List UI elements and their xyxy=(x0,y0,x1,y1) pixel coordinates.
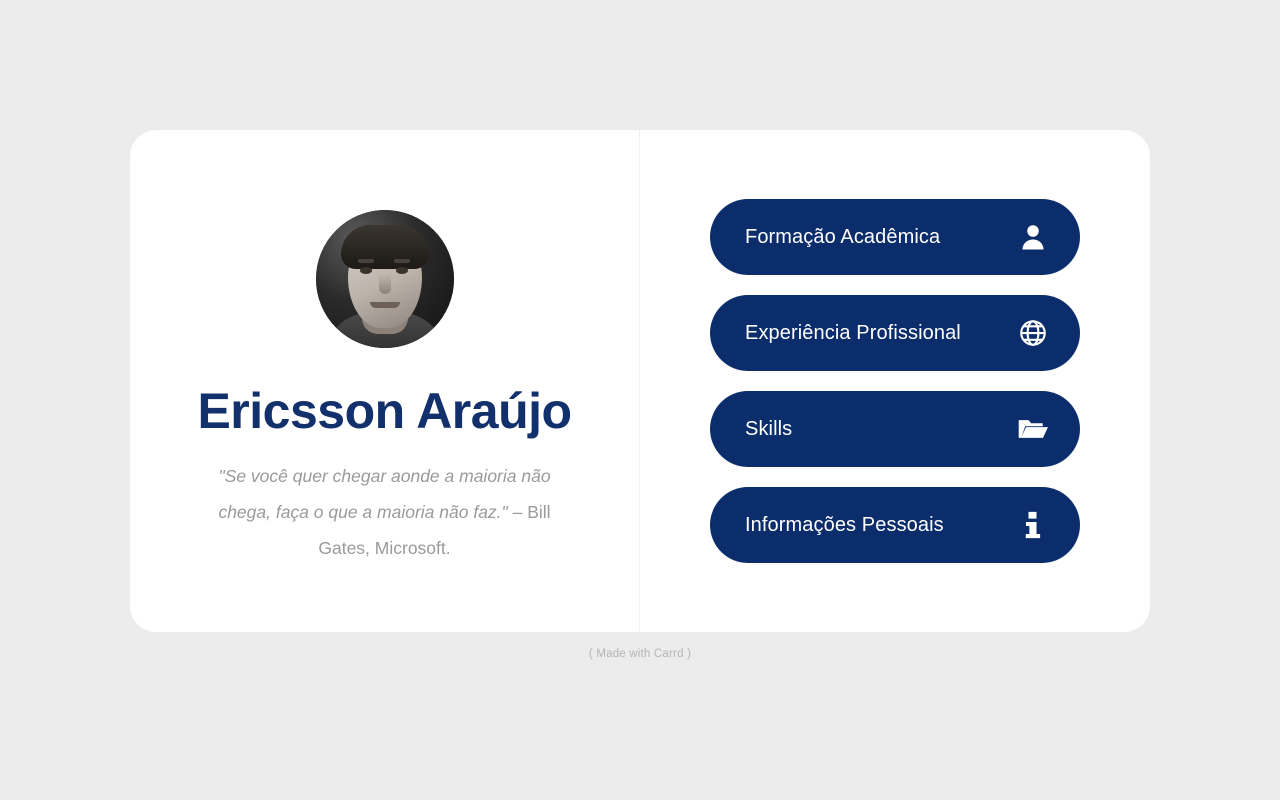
profile-column: Ericsson Araújo "Se você quer chegar aon… xyxy=(130,130,640,632)
avatar xyxy=(316,210,454,348)
page-title: Ericsson Araújo xyxy=(197,384,571,438)
footer-credit[interactable]: ( Made with Carrd ) xyxy=(0,648,1280,660)
avatar-brow-right xyxy=(394,259,410,263)
page-root: Ericsson Araújo "Se você quer chegar aon… xyxy=(0,0,1280,800)
nav-button-experiencia-profissional[interactable]: Experiência Profissional xyxy=(710,295,1080,371)
info-icon xyxy=(1016,508,1050,542)
avatar-hair xyxy=(341,225,429,269)
quote-text: "Se você quer chegar aonde a maioria não… xyxy=(218,466,550,522)
navigation-column: Formação Acadêmica Experiência Profissio… xyxy=(640,130,1150,632)
user-icon xyxy=(1016,220,1050,254)
avatar-mouth xyxy=(370,302,400,308)
folder-open-icon xyxy=(1016,412,1050,446)
avatar-nose xyxy=(379,274,391,294)
avatar-eye-left xyxy=(360,267,372,274)
quote-block: "Se você quer chegar aonde a maioria não… xyxy=(199,458,571,566)
nav-button-informacoes-pessoais[interactable]: Informações Pessoais xyxy=(710,487,1080,563)
avatar-eye-right xyxy=(396,267,408,274)
nav-button-label: Formação Acadêmica xyxy=(745,226,940,249)
nav-button-label: Skills xyxy=(745,418,792,441)
nav-button-label: Informações Pessoais xyxy=(745,514,944,537)
avatar-brow-left xyxy=(358,259,374,263)
nav-button-skills[interactable]: Skills xyxy=(710,391,1080,467)
nav-button-label: Experiência Profissional xyxy=(745,322,961,345)
nav-button-formacao-academica[interactable]: Formação Acadêmica xyxy=(710,199,1080,275)
profile-card: Ericsson Araújo "Se você quer chegar aon… xyxy=(130,130,1150,632)
globe-icon xyxy=(1016,316,1050,350)
